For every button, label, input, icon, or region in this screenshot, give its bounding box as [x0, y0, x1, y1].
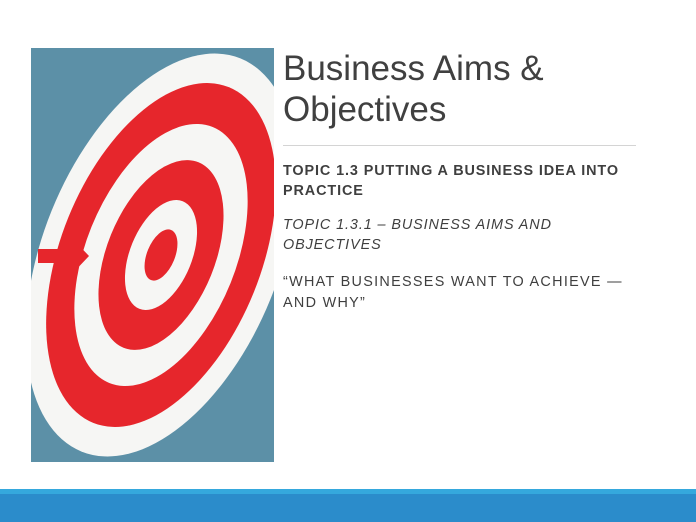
subtitle-quote: “WHAT BUSINESSES WANT TO ACHIEVE — AND W…: [283, 255, 639, 314]
footer-band-dark: [0, 494, 696, 522]
title-image-panel: [31, 48, 274, 462]
subtitle-lesson: TOPIC 1.3.1 – BUSINESS AIMS AND OBJECTIV…: [283, 201, 639, 255]
page-title: Business Aims & Objectives: [283, 48, 639, 132]
title-text-column: Business Aims & Objectives TOPIC 1.3 PUT…: [283, 48, 639, 314]
subtitle-topic: TOPIC 1.3 PUTTING A BUSINESS IDEA INTO P…: [283, 146, 639, 201]
bullseye-target-illustration: [31, 48, 274, 462]
slide-canvas: Business Aims & Objectives TOPIC 1.3 PUT…: [0, 0, 696, 522]
